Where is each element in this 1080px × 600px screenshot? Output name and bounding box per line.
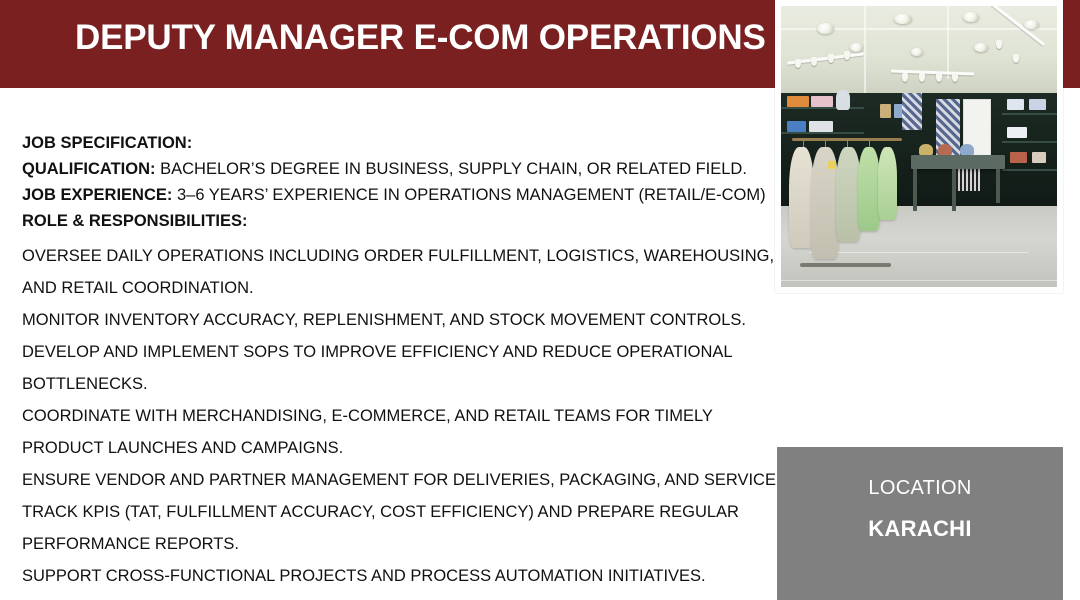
photo-garment [878, 147, 897, 220]
location-label: LOCATION [868, 477, 971, 500]
photo-floor-line [781, 280, 1057, 281]
photo-merchandise [1029, 99, 1046, 110]
responsibilities-heading: ROLE & RESPONSIBILITIES: [22, 208, 782, 234]
qualification-label: QUALIFICATION: [22, 160, 156, 178]
qualification-value: BACHELOR’S DEGREE IN BUSINESS, SUPPLY CH… [160, 160, 747, 178]
photo-shelf [1002, 141, 1057, 143]
photo-merchandise [1010, 152, 1027, 163]
photo-merchandise [1032, 152, 1046, 163]
location-box: LOCATION KARACHI [777, 447, 1063, 600]
photo-merchandise [1007, 99, 1024, 110]
photo-ceiling-beam [864, 6, 866, 93]
photo-ceiling-light [850, 43, 863, 52]
photo-merchandise [811, 96, 833, 107]
list-item: SUPPORT CROSS-FUNCTIONAL PROJECTS AND PR… [22, 560, 782, 592]
photo-spotlight [936, 73, 942, 82]
photo-ceiling-light [817, 23, 834, 34]
photo-shelf [781, 132, 864, 134]
photo-table-leg [913, 169, 917, 211]
list-item: COORDINATE WITH MERCHANDISING, E-COMMERC… [22, 400, 782, 464]
photo-table-item [938, 144, 952, 155]
retail-store-interior-photo [781, 6, 1057, 287]
photo-ceiling-beam [947, 6, 949, 79]
photo-merchandise [787, 121, 806, 132]
photo-merchandise [1007, 127, 1026, 138]
photo-table-leg [996, 169, 1000, 203]
photo-merchandise [880, 104, 891, 118]
photo-hanger [825, 141, 826, 147]
photo-ceiling-light [1024, 20, 1039, 29]
photo-spotlight [828, 54, 834, 63]
list-item: TRACK KPIS (TAT, FULFILLMENT ACCURACY, C… [22, 496, 782, 560]
page-title: DEPUTY MANAGER E-COM OPERATIONS [75, 8, 766, 68]
job-specification-label: JOB SPECIFICATION: [22, 134, 192, 152]
photo-price-tag [828, 161, 836, 169]
experience-value: 3–6 YEARS’ EXPERIENCE IN OPERATIONS MANA… [177, 186, 766, 204]
qualification-row: QUALIFICATION: BACHELOR’S DEGREE IN BUSI… [22, 156, 782, 182]
list-item: DEVELOP AND IMPLEMENT SOPS TO IMPROVE EF… [22, 336, 782, 400]
photo-garment [789, 147, 814, 248]
experience-row: JOB EXPERIENCE: 3–6 YEARS’ EXPERIENCE IN… [22, 182, 782, 208]
list-item: OVERSEE DAILY OPERATIONS INCLUDING ORDER… [22, 240, 782, 304]
location-value: KARACHI [868, 516, 972, 542]
photo-hanger [803, 141, 804, 147]
list-item: MONITOR INVENTORY ACCURACY, REPLENISHMEN… [22, 304, 782, 336]
job-specification-heading: JOB SPECIFICATION: [22, 130, 782, 156]
photo-floor-line [809, 252, 1030, 253]
experience-label: JOB EXPERIENCE: [22, 186, 172, 204]
photo-rack-base [800, 263, 891, 267]
photo-merchandise [809, 121, 834, 132]
photo-display-table [911, 155, 1005, 169]
photo-table-item [919, 144, 933, 155]
job-details: JOB SPECIFICATION: QUALIFICATION: BACHEL… [22, 130, 782, 592]
photo-shelf [1002, 113, 1057, 115]
photo-ceiling-light [974, 43, 988, 52]
photo-hanger [869, 141, 870, 147]
responsibilities-label: ROLE & RESPONSIBILITIES: [22, 212, 248, 230]
photo-spotlight [1013, 54, 1019, 63]
photo-merchandise [787, 96, 809, 107]
photo-table-leg [952, 169, 956, 211]
photo-hanger [847, 141, 848, 147]
photo-shelf [781, 107, 864, 109]
responsibilities-list: OVERSEE DAILY OPERATIONS INCLUDING ORDER… [22, 240, 782, 592]
store-photo-frame [775, 0, 1063, 293]
photo-vase [836, 90, 850, 110]
photo-printed-fabric [902, 93, 921, 130]
photo-table-item [960, 144, 974, 155]
photo-ceiling-light [911, 48, 923, 56]
list-item: ENSURE VENDOR AND PARTNER MANAGEMENT FOR… [22, 464, 782, 496]
photo-shelf [1002, 169, 1057, 171]
photo-printed-fabric [952, 166, 980, 191]
photo-ceiling-light [963, 12, 979, 22]
